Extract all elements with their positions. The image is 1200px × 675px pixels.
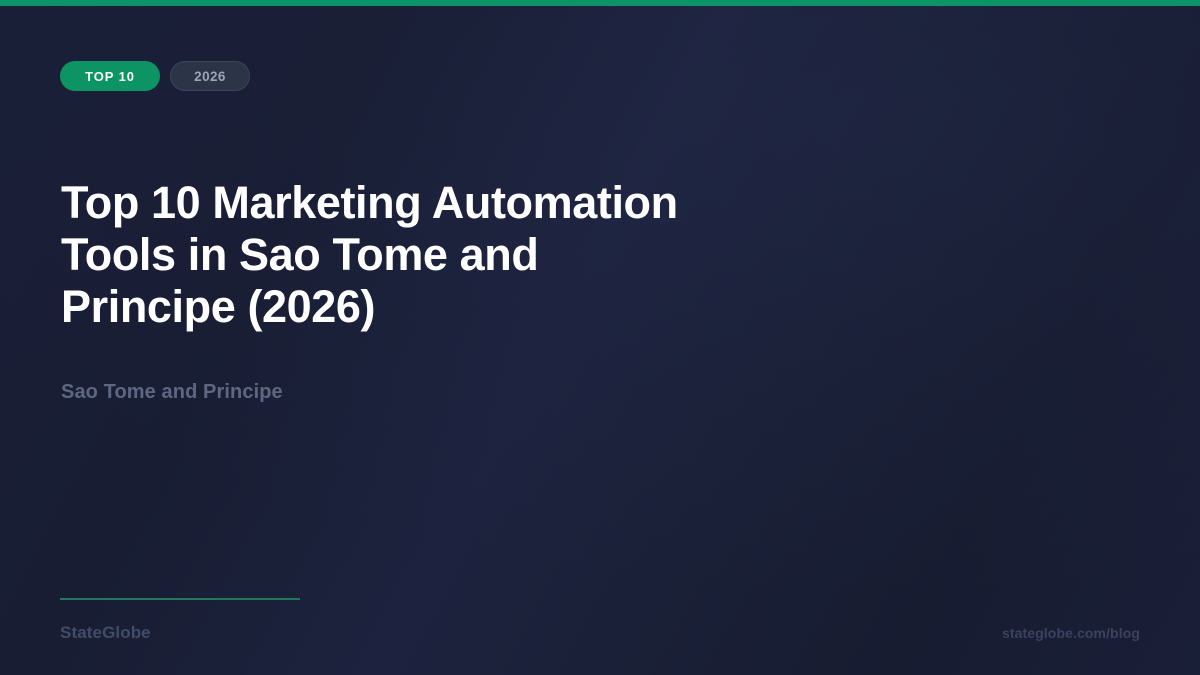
footer-site-url[interactable]: stateglobe.com/blog: [1002, 625, 1140, 641]
subtitle-region: Sao Tome and Principe: [61, 381, 283, 404]
footer-divider: [60, 598, 300, 600]
year-badge[interactable]: 2026: [170, 61, 250, 91]
page-title: Top 10 Marketing Automation Tools in Sao…: [61, 177, 701, 333]
rank-badge[interactable]: TOP 10: [60, 61, 160, 91]
badge-row: TOP 10 2026: [60, 61, 250, 91]
blog-hero-card: TOP 10 2026 Top 10 Marketing Automation …: [0, 0, 1200, 675]
footer-brand-name: StateGlobe: [60, 623, 151, 643]
card-content: TOP 10 2026 Top 10 Marketing Automation …: [0, 0, 1200, 675]
